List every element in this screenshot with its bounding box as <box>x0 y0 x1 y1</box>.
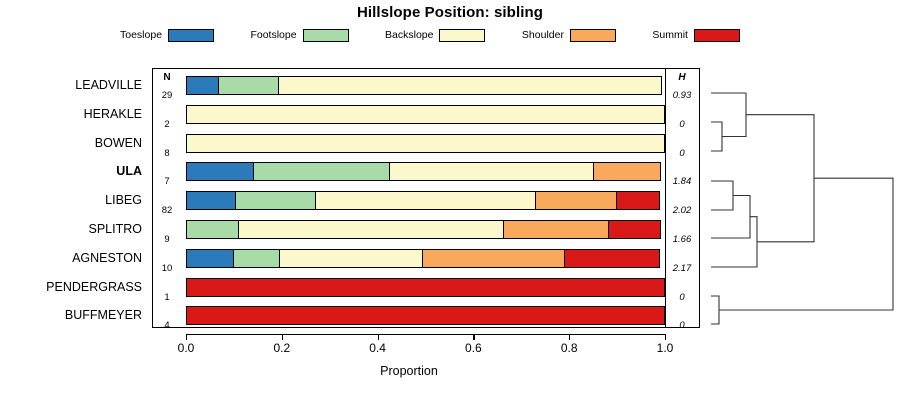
legend-swatch <box>168 29 214 42</box>
table-row[interactable] <box>186 105 665 124</box>
legend-item-label: Shoulder <box>522 29 564 41</box>
legend-item: Footslope <box>250 29 348 42</box>
bar-segment-summit[interactable] <box>186 278 665 297</box>
h-value: 0 <box>666 292 698 303</box>
series-label-buffmeyer: BUFFMEYER <box>0 308 142 322</box>
h-column: H 0.93001.842.021.662.1700 <box>666 68 700 328</box>
h-value: 0 <box>666 119 698 130</box>
h-value: 0.93 <box>666 90 698 101</box>
dendro-join-pendergrass-buffmeyer <box>711 296 719 324</box>
legend-swatch <box>694 29 740 42</box>
x-axis-tick-label: 0.6 <box>453 341 493 355</box>
dendro-join-splitro <box>711 196 750 239</box>
x-axis-title: Proportion <box>152 364 666 378</box>
page-title: Hillslope Position: sibling <box>0 4 900 21</box>
bar-segment-backslope[interactable] <box>279 249 423 268</box>
x-axis-tick <box>186 334 187 340</box>
dendro-join-ula-libeg <box>711 181 733 210</box>
bar-segment-backslope[interactable] <box>238 220 504 239</box>
bar-segment-toeslope[interactable] <box>186 76 219 95</box>
series-label-ula: ULA <box>0 164 142 178</box>
table-row[interactable] <box>186 249 665 268</box>
series-label-herakle: HERAKLE <box>0 107 142 121</box>
bar-segment-toeslope[interactable] <box>186 162 254 181</box>
legend: ToeslopeFootslopeBackslopeShoulderSummit <box>120 26 740 44</box>
table-row[interactable] <box>186 162 665 181</box>
h-value: 0 <box>666 148 698 159</box>
bar-segment-summit[interactable] <box>564 249 660 268</box>
bar-segment-backslope[interactable] <box>186 105 665 124</box>
h-value: 2.17 <box>666 263 698 274</box>
x-axis-tick-label: 0.0 <box>166 341 206 355</box>
bar-segment-footslope[interactable] <box>218 76 279 95</box>
series-label-leadville: LEADVILLE <box>0 78 142 92</box>
bar-segment-summit[interactable] <box>608 220 661 239</box>
legend-swatch <box>439 29 485 42</box>
x-axis-tick <box>378 334 379 340</box>
h-column-header: H <box>666 72 698 83</box>
legend-item: Shoulder <box>522 29 616 42</box>
legend-item: Toeslope <box>120 29 214 42</box>
bar-segment-backslope[interactable] <box>389 162 594 181</box>
x-axis-tick <box>665 334 666 340</box>
bar-segment-footslope[interactable] <box>186 220 239 239</box>
table-row[interactable] <box>186 76 665 95</box>
dendro-join-herakle-bowen <box>711 122 722 151</box>
h-value: 1.66 <box>666 234 698 245</box>
series-label-splitro: SPLITRO <box>0 222 142 236</box>
h-value: 0 <box>666 320 698 331</box>
bar-segment-summit[interactable] <box>186 306 665 325</box>
legend-item-label: Summit <box>652 29 688 41</box>
series-label-bowen: BOWEN <box>0 136 142 150</box>
x-axis-tick <box>282 334 283 340</box>
x-axis-tick <box>569 334 570 340</box>
table-row[interactable] <box>186 220 665 239</box>
legend-item: Backslope <box>385 29 485 42</box>
legend-item-label: Backslope <box>385 29 433 41</box>
legend-item-label: Footslope <box>250 29 296 41</box>
x-axis-tick-label: 0.4 <box>358 341 398 355</box>
series-label-pendergrass: PENDERGRASS <box>0 280 142 294</box>
dendro-join-leadville-cluster <box>711 93 746 137</box>
x-axis-tick-label: 0.8 <box>549 341 589 355</box>
table-row[interactable] <box>186 278 665 297</box>
table-row[interactable] <box>186 134 665 153</box>
bar-segment-footslope[interactable] <box>233 249 281 268</box>
x-axis-tick <box>473 334 474 340</box>
x-axis-tick-label: 0.2 <box>262 341 302 355</box>
stacked-bar-rows <box>152 68 666 328</box>
x-axis-tick-label: 1.0 <box>645 341 685 355</box>
bar-segment-shoulder[interactable] <box>535 191 617 210</box>
series-name-column: LEADVILLEHERAKLEBOWENULALIBEGSPLITROAGNE… <box>0 68 146 328</box>
bar-segment-toeslope[interactable] <box>186 191 236 210</box>
h-value: 1.84 <box>666 176 698 187</box>
bar-segment-backslope[interactable] <box>278 76 663 95</box>
x-axis-line <box>186 334 665 335</box>
bar-segment-footslope[interactable] <box>253 162 390 181</box>
bar-segment-toeslope[interactable] <box>186 249 234 268</box>
bar-segment-shoulder[interactable] <box>422 249 566 268</box>
table-row[interactable] <box>186 191 665 210</box>
legend-swatch <box>303 29 349 42</box>
bar-segment-footslope[interactable] <box>235 191 316 210</box>
bar-segment-shoulder[interactable] <box>593 162 661 181</box>
dendro-join-upper-lower <box>746 115 814 242</box>
h-value: 2.02 <box>666 205 698 216</box>
legend-item-label: Toeslope <box>120 29 162 41</box>
bar-segment-summit[interactable] <box>616 191 660 210</box>
bar-segment-shoulder[interactable] <box>503 220 609 239</box>
dendro-root-join <box>719 178 893 310</box>
dendrogram <box>700 60 900 345</box>
legend-swatch <box>570 29 616 42</box>
series-label-libeg: LIBEG <box>0 193 142 207</box>
bar-segment-backslope[interactable] <box>186 134 665 153</box>
series-label-agneston: AGNESTON <box>0 251 142 265</box>
legend-item: Summit <box>652 29 740 42</box>
bar-segment-backslope[interactable] <box>315 191 537 210</box>
table-row[interactable] <box>186 306 665 325</box>
